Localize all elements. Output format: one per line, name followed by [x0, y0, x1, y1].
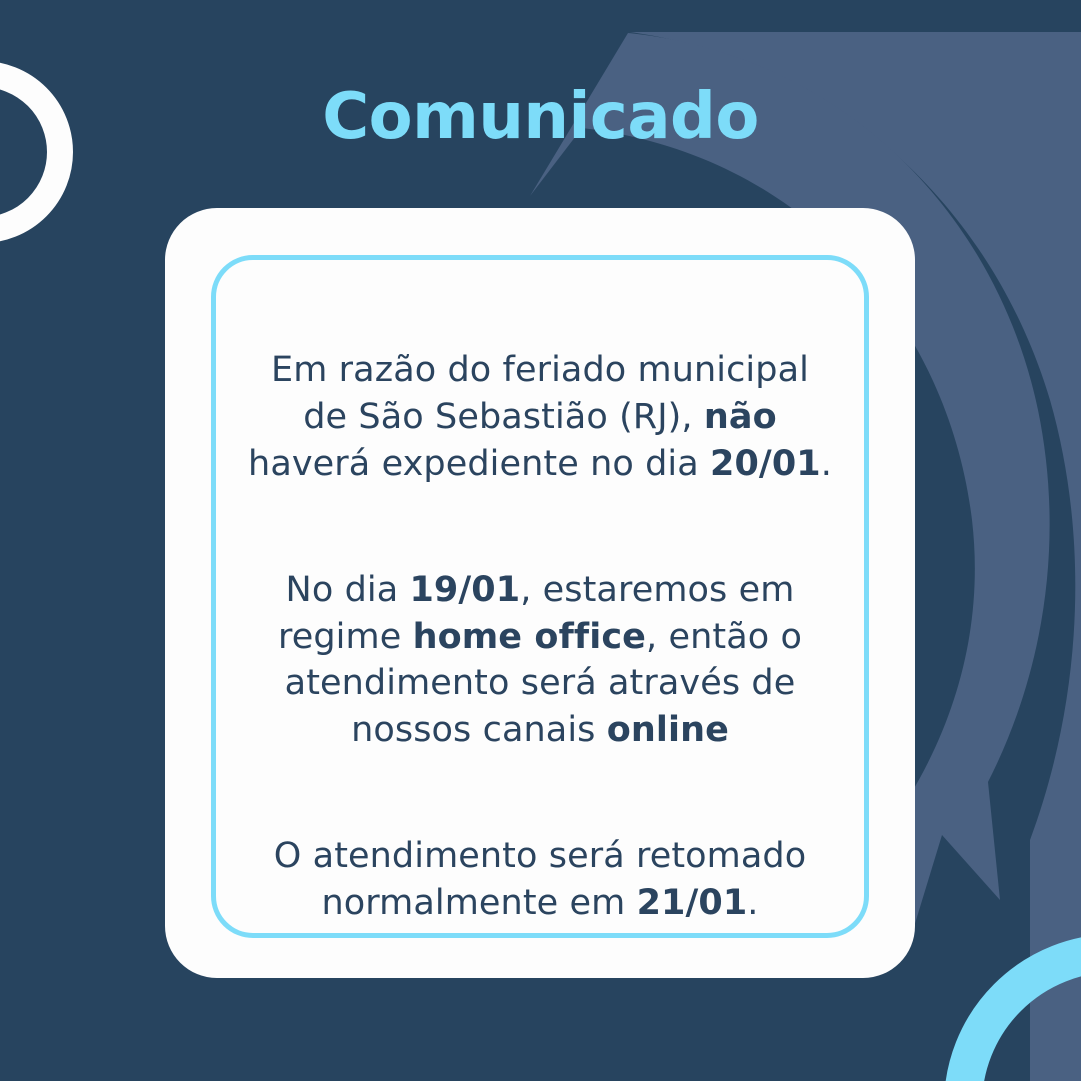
communique-poster: Comunicado Em razão do feriado municipal… [0, 0, 1081, 1081]
announcement-paragraph-3: O atendimento será retomado normalmente … [244, 833, 836, 927]
announcement-paragraph-1: Em razão do feriado municipal de São Seb… [244, 347, 836, 488]
announcement-card-inner-frame: Em razão do feriado municipal de São Seb… [211, 255, 869, 938]
announcement-paragraph-2: No dia 19/01, estaremos em regime home o… [244, 567, 836, 755]
announcement-card: Em razão do feriado municipal de São Seb… [165, 208, 915, 978]
page-title: Comunicado [0, 82, 1081, 152]
